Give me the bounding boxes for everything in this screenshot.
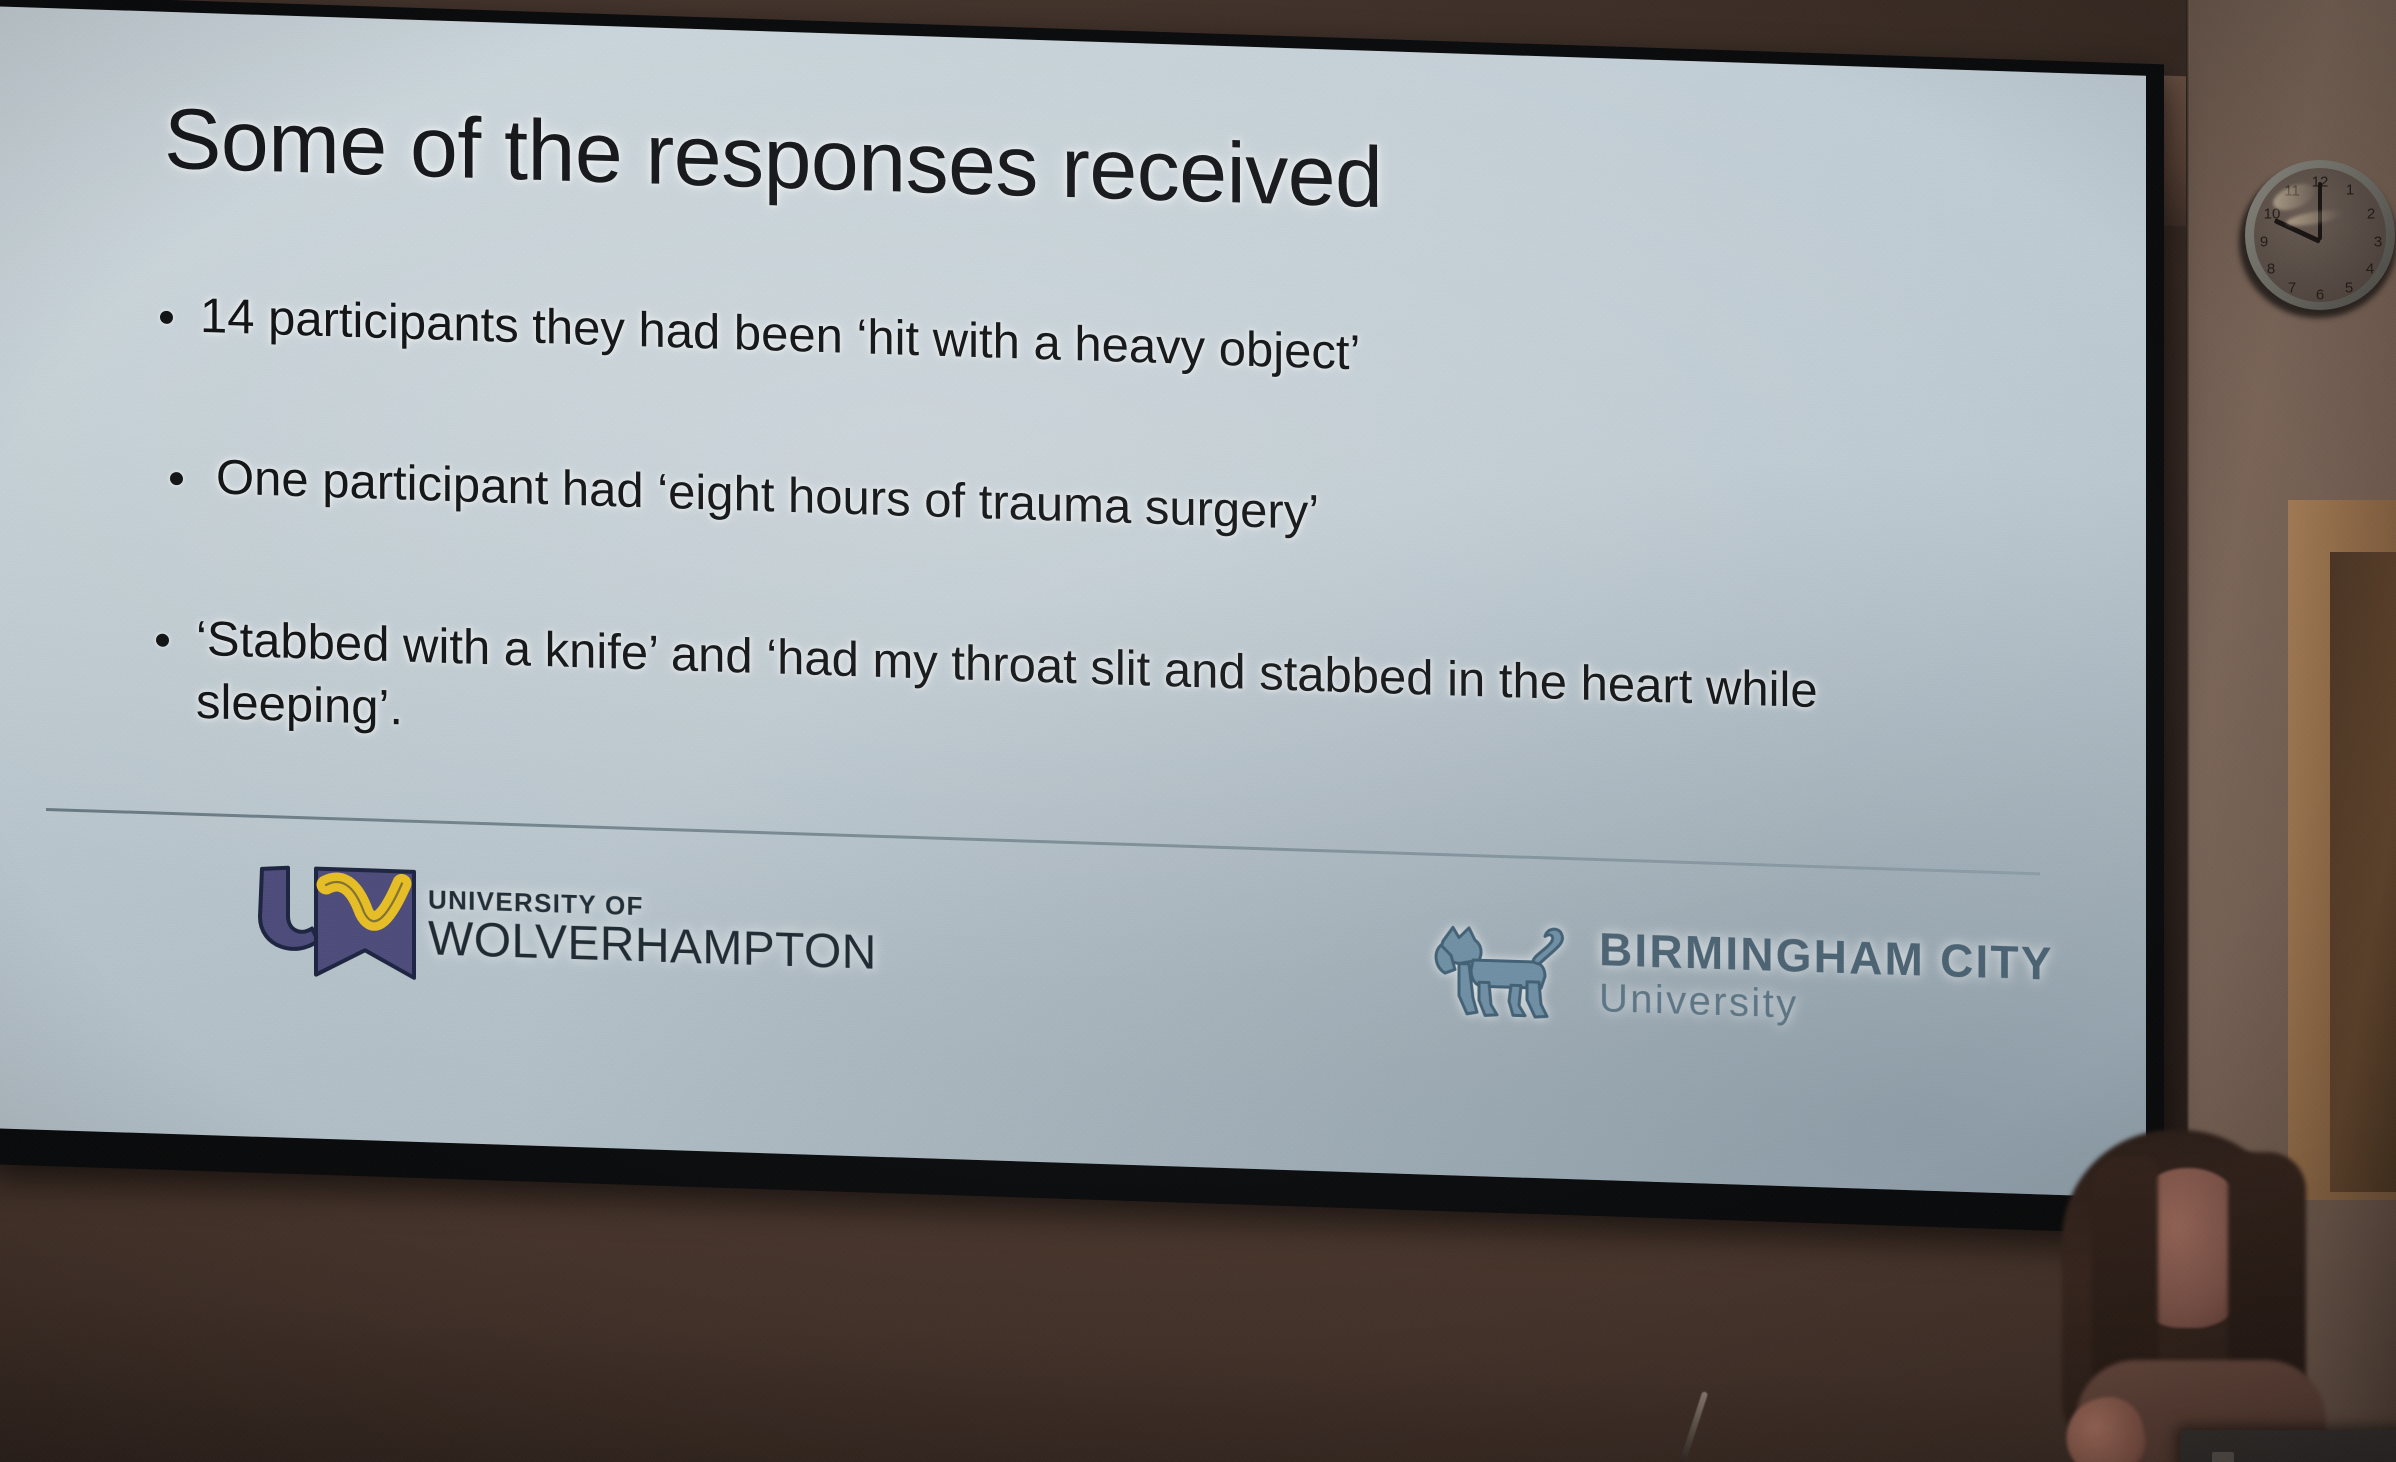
projection-screen-frame: Some of the responses received 14 partic…	[0, 0, 2164, 1234]
clock-number-4: 4	[2366, 261, 2374, 278]
slide-bullet-text: ‘Stabbed with a knife’ and ‘had my throa…	[196, 612, 1818, 735]
clock-glare-secondary	[2285, 207, 2342, 229]
clock-number-1: 1	[2346, 182, 2354, 199]
presenter-laptop	[2180, 1430, 2396, 1462]
clock-number-2: 2	[2367, 206, 2375, 223]
wolverhampton-mark-icon	[252, 863, 418, 980]
slide-bullet-item: One participant had ‘eight hours of trau…	[144, 444, 2004, 567]
clock-number-6: 6	[2316, 287, 2324, 303]
bcu-lion-icon	[1429, 915, 1579, 1024]
clock-number-8: 8	[2267, 261, 2275, 278]
slide-title: Some of the responses received	[164, 94, 1382, 224]
bullet-dot-icon	[156, 634, 169, 647]
slide-bullet-list: 14 participants they had been ‘hit with …	[144, 283, 2004, 792]
logo-university-of-wolverhampton: UNIVERSITY OF WOLVERHAMPTON	[252, 863, 877, 995]
bcu-wordmark: BIRMINGHAM CITY University	[1599, 926, 2054, 1033]
clock-number-9: 9	[2260, 234, 2268, 251]
clock-number-7: 7	[2288, 280, 2296, 297]
slide-bullet-item: 14 participants they had been ‘hit with …	[144, 283, 2004, 406]
laptop-logo-icon	[2212, 1452, 2234, 1462]
wolverhampton-line-2: WOLVERHAMPTON	[428, 915, 877, 977]
clock-number-3: 3	[2374, 234, 2382, 251]
clock-face: 12 1 2 3 4 5 6 7 8 9 10 11	[2254, 168, 2386, 302]
bullet-dot-icon	[160, 311, 173, 324]
photo-scene: 12 1 2 3 4 5 6 7 8 9 10 11 Some of the r…	[0, 0, 2396, 1462]
wall-clock: 12 1 2 3 4 5 6 7 8 9 10 11	[2245, 160, 2396, 320]
presentation-slide: Some of the responses received 14 partic…	[0, 6, 2146, 1198]
bullet-dot-icon	[170, 472, 183, 485]
slide-bullet-text: One participant had ‘eight hours of trau…	[216, 450, 1319, 540]
clock-number-5: 5	[2345, 280, 2353, 297]
presenter-figure	[2020, 1130, 2350, 1462]
logo-birmingham-city-university: BIRMINGHAM CITY University	[1429, 915, 2054, 1039]
slide-bullet-item: ‘Stabbed with a knife’ and ‘had my throa…	[144, 607, 2004, 793]
projection-screen-surface: Some of the responses received 14 partic…	[0, 6, 2146, 1198]
wolverhampton-wordmark: UNIVERSITY OF WOLVERHAMPTON	[428, 886, 877, 977]
slide-bullet-text: 14 participants they had been ‘hit with …	[200, 289, 1360, 380]
door-opening	[2330, 552, 2396, 1192]
